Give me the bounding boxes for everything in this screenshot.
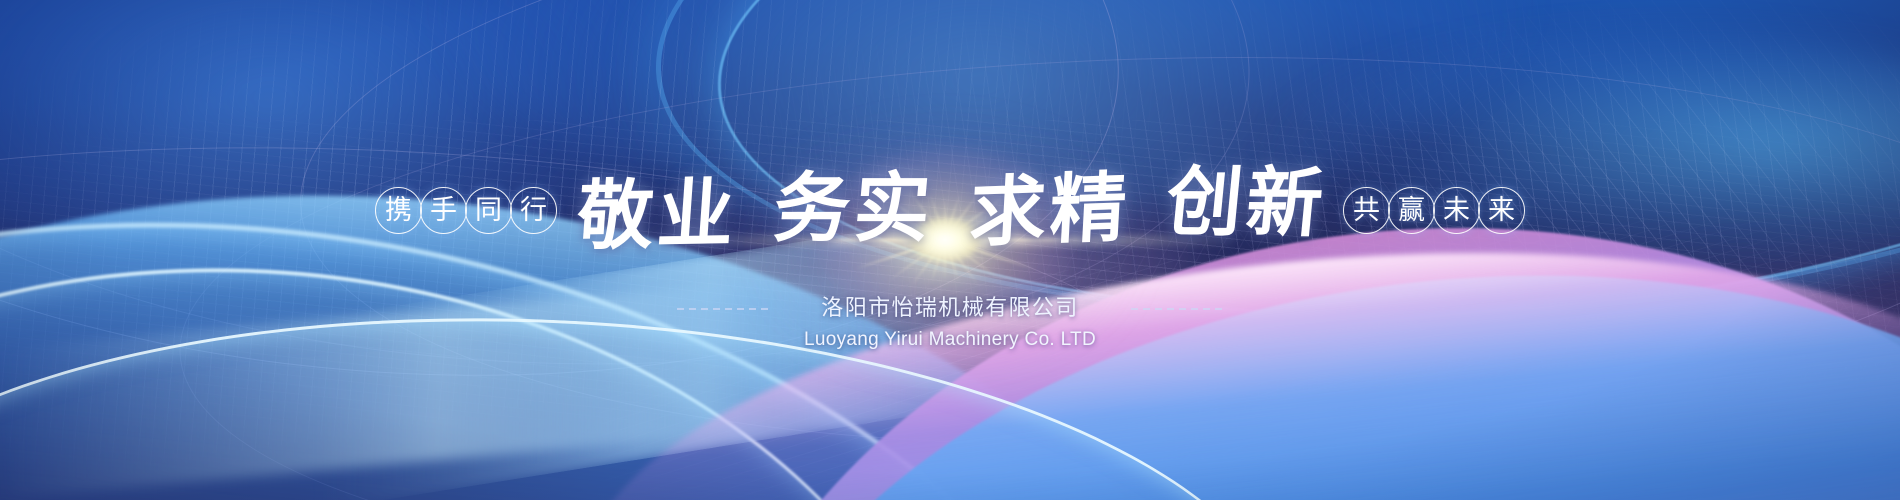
circled-char-xing: 行 [510,187,557,234]
circled-char-xie: 携 [375,187,422,234]
circled-char-tong: 同 [465,187,512,234]
slogan-phrase-chuangxin: 创新 [1163,164,1330,241]
dashed-rule-right [1131,308,1223,310]
company-name-en: Luoyang Yirui Machinery Co. LTD [804,328,1096,352]
calligraphy-slogan: 敬业 务实 求精 创新 [575,165,1329,254]
company-name-block: 洛阳市怡瑞机械有限公司 Luoyang Yirui Machinery Co. … [0,295,1900,351]
circled-char-gong: 共 [1343,187,1390,234]
left-circled-characters: 携 手 同 行 [376,187,556,234]
slogan-phrase-qiujing: 求精 [968,170,1132,252]
banner-content: 携 手 同 行 敬业 务实 求精 创新 共 赢 未 来 洛阳市怡瑞机械有限公司 [0,0,1900,500]
circled-char-wei: 未 [1433,187,1480,234]
circled-char-ying: 赢 [1388,187,1435,234]
company-name-cn-row: 洛阳市怡瑞机械有限公司 [677,295,1222,323]
dashed-rule-left [677,308,769,310]
headline-row: 携 手 同 行 敬业 务实 求精 创新 共 赢 未 来 [0,155,1900,265]
circled-char-shou: 手 [420,187,467,234]
right-circled-characters: 共 赢 未 来 [1344,187,1524,234]
company-culture-banner: 携 手 同 行 敬业 务实 求精 创新 共 赢 未 来 洛阳市怡瑞机械有限公司 [0,0,1900,500]
circled-char-lai: 来 [1478,187,1525,234]
slogan-phrase-wushi: 务实 [771,171,938,247]
company-name-cn: 洛阳市怡瑞机械有限公司 [821,295,1078,323]
slogan-phrase-jingye: 敬业 [575,176,741,255]
